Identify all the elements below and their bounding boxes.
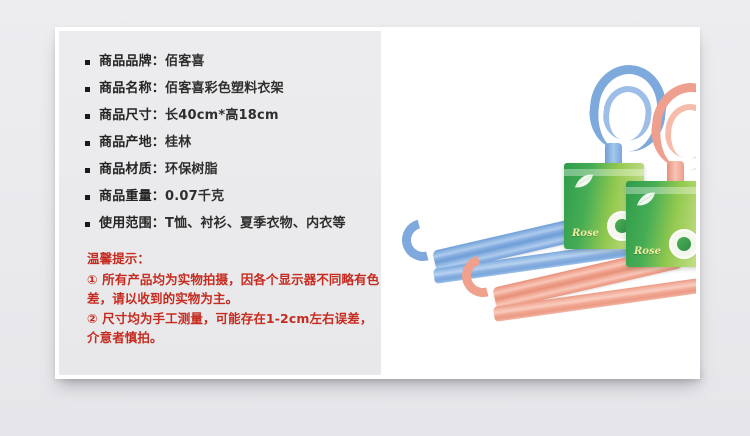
tips-line-1: ① 所有产品均为实物拍摄，因各个显示器不同略有色差，请以收到的实物为主。 (87, 270, 381, 309)
square-bullet-icon (85, 87, 90, 92)
spec-value: 环保树脂 (165, 161, 218, 179)
square-bullet-icon (85, 195, 90, 200)
tips-block: 温馨提示： ① 所有产品均为实物拍摄，因各个显示器不同略有色差，请以收到的实物为… (87, 249, 381, 348)
leaf-icon (635, 190, 657, 208)
panel-divider (381, 31, 394, 375)
spec-list: 商品品牌： 佰客喜 商品名称： 佰客喜彩色塑料衣架 商品尺寸： 长40cm*高1… (85, 53, 381, 233)
spec-row-usage: 使用范围： T恤、衬衫、夏季衣物、内衣等 (85, 215, 381, 233)
spec-value: 长40cm*高18cm (165, 107, 279, 125)
hook-inner-blue (601, 84, 654, 143)
tips-line-2: ② 尺寸均为手工测量，可能存在1-2cm左右误差，介意者慎拍。 (87, 309, 381, 348)
product-detail-card: 商品品牌： 佰客喜 商品名称： 佰客喜彩色塑料衣架 商品尺寸： 长40cm*高1… (55, 27, 700, 379)
spec-label: 商品品牌： (99, 53, 165, 71)
spec-label: 商品产地： (99, 134, 165, 152)
spec-value: 桂林 (165, 134, 191, 152)
spec-value: 佰客喜彩色塑料衣架 (165, 80, 284, 98)
hook-inner-coral (663, 102, 696, 161)
square-bullet-icon (85, 168, 90, 173)
label-badge (669, 229, 696, 259)
square-bullet-icon (85, 60, 90, 65)
spec-label: 商品材质： (99, 161, 165, 179)
spec-panel: 商品品牌： 佰客喜 商品名称： 佰客喜彩色塑料衣架 商品尺寸： 长40cm*高1… (59, 31, 381, 375)
spec-label: 商品名称： (99, 80, 165, 98)
spec-value: 0.07千克 (165, 188, 224, 206)
spec-row-material: 商品材质： 环保树脂 (85, 161, 381, 179)
spec-value: T恤、衬衫、夏季衣物、内衣等 (165, 215, 346, 233)
spec-row-origin: 商品产地： 桂林 (85, 134, 381, 152)
spec-label: 商品重量： (99, 188, 165, 206)
square-bullet-icon (85, 141, 90, 146)
spec-row-size: 商品尺寸： 长40cm*高18cm (85, 107, 381, 125)
tips-title: 温馨提示： (87, 249, 381, 269)
label-script: Rose (572, 228, 599, 239)
spec-row-name: 商品名称： 佰客喜彩色塑料衣架 (85, 80, 381, 98)
spec-row-weight: 商品重量： 0.07千克 (85, 188, 381, 206)
product-photo: Rose Rose (394, 31, 696, 375)
spec-value: 佰客喜 (165, 53, 205, 71)
leaf-icon (573, 172, 595, 190)
product-label-right: Rose (626, 181, 696, 267)
spec-row-brand: 商品品牌： 佰客喜 (85, 53, 381, 71)
square-bullet-icon (85, 114, 90, 119)
square-bullet-icon (85, 222, 90, 227)
spec-label: 商品尺寸： (99, 107, 165, 125)
label-script: Rose (634, 246, 661, 257)
spec-label: 使用范围： (99, 215, 165, 233)
